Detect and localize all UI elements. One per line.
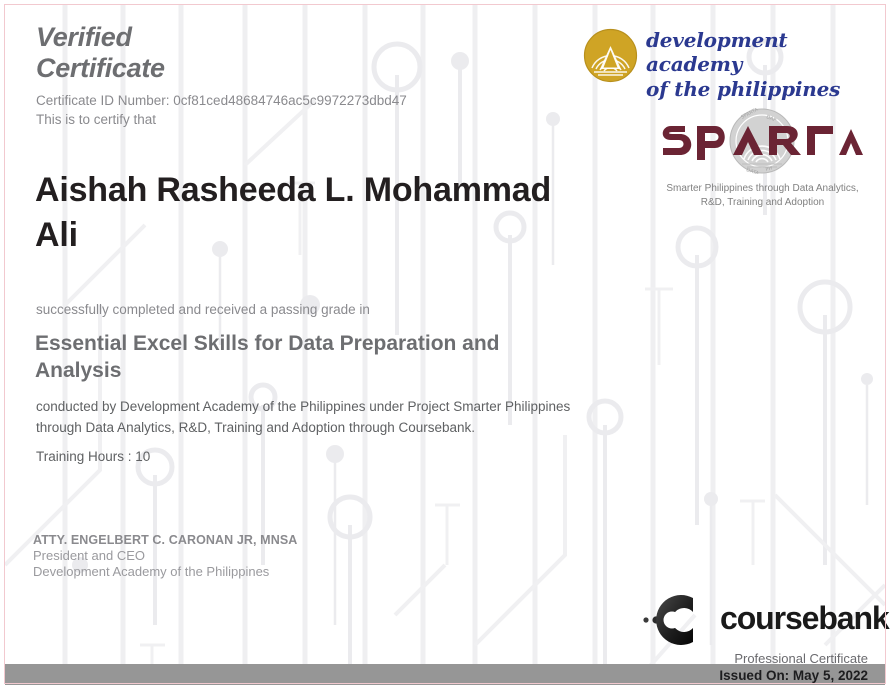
signatory-organization: Development Academy of the Philippines [33,564,363,581]
verified-certificate: Verified Certificate Certificate ID Numb… [0,0,890,688]
dap-word-line-1: development academy [646,28,866,77]
coursebank-c-icon [636,592,722,648]
certify-statement: This is to certify that [36,112,156,127]
page-title: Verified Certificate [36,22,336,85]
sparta-logo: SPARTA DAP DATA PH [655,108,870,208]
passing-grade-statement: successfully completed and received a pa… [36,302,370,317]
signatory-name: ATTY. ENGELBERT C. CARONAN JR, MNSA [33,533,363,548]
sparta-seal-icon: SPARTA DAP DATA PH [655,108,870,174]
sparta-caption-line-2: R&D, Training and Adoption [655,196,870,210]
certificate-id: Certificate ID Number: 0cf81ced48684746a… [36,93,407,108]
sparta-caption: Smarter Philippines through Data Analyti… [655,182,870,210]
title-line-1: Verified [36,22,132,52]
title-line-2: Certificate [36,53,336,84]
signatory-role: President and CEO [33,548,363,565]
dap-wordmark: development academy of the philippines [646,28,866,101]
dap-logo: development academy of the philippines [583,25,868,87]
recipient-name: Aishah Rasheeda L. Mohammad Ali [35,168,565,258]
training-hours: Training Hours : 10 [36,449,150,464]
course-title: Essential Excel Skills for Data Preparat… [35,331,555,385]
signatory-block: ATTY. ENGELBERT C. CARONAN JR, MNSA Pres… [33,533,363,581]
issued-on-date: Issued On: May 5, 2022 [719,668,868,683]
dap-seal-icon [583,28,638,83]
sparta-caption-line-1: Smarter Philippines through Data Analyti… [655,182,870,196]
conducted-by-statement: conducted by Development Academy of the … [36,396,581,439]
coursebank-logo: coursebank [636,592,886,648]
dap-word-line-2: of the philippines [646,77,866,101]
coursebank-wordmark: coursebank [720,600,889,637]
